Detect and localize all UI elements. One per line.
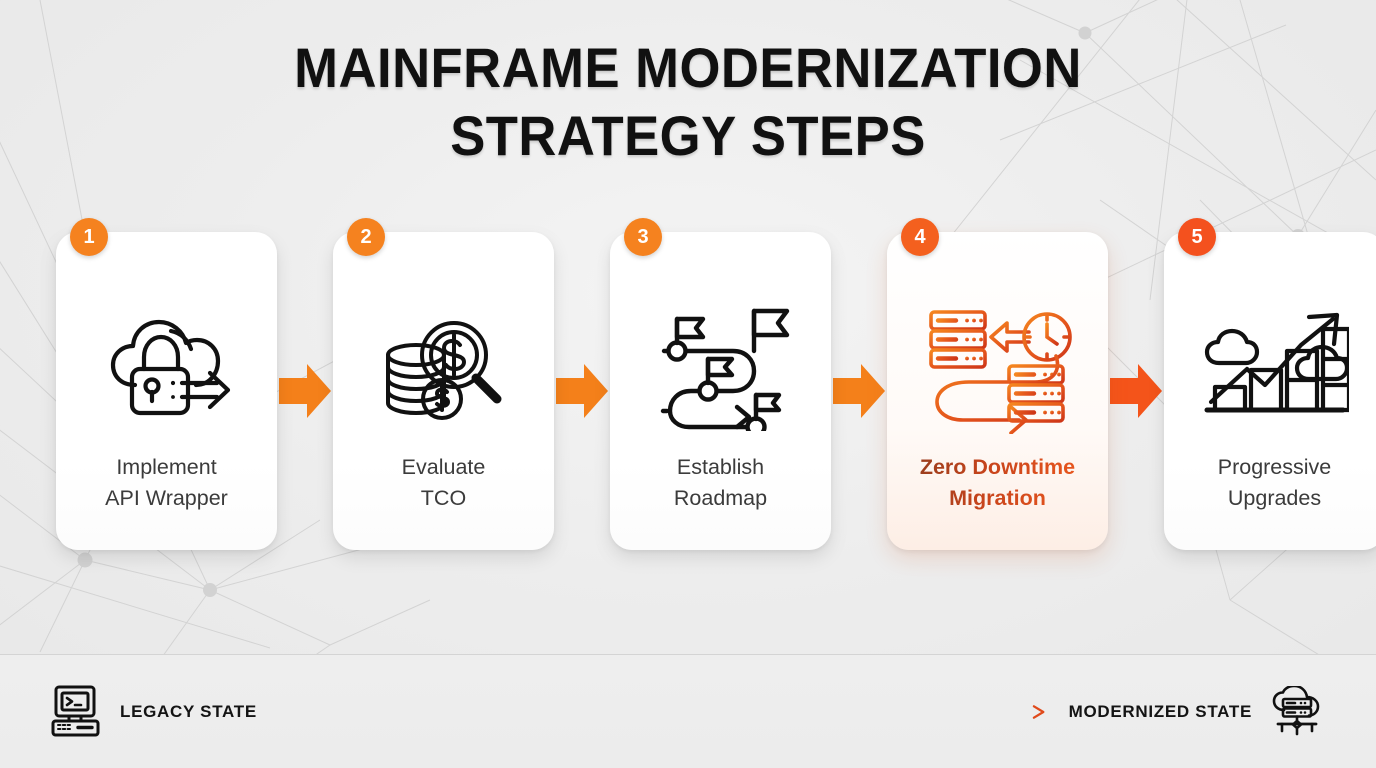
step-label-1: Implement API Wrapper	[64, 452, 269, 514]
step-label-2: Evaluate TCO	[341, 452, 546, 514]
growth-chart-cloud-icon	[1164, 294, 1376, 444]
step-label-4-line2: Migration	[895, 483, 1100, 514]
step-label-4-line1: Zero Downtime	[920, 455, 1075, 479]
step-label-5-line2: Upgrades	[1172, 483, 1376, 514]
legacy-terminal-computer-icon	[50, 684, 102, 740]
step-number-4: 4	[914, 226, 925, 249]
step-label-5: Progressive Upgrades	[1172, 452, 1376, 514]
step-number-3: 3	[637, 226, 648, 249]
step-card-3[interactable]: 3	[610, 232, 831, 550]
step-label-3: Establish Roadmap	[618, 452, 823, 514]
cloud-server-network-icon	[1270, 686, 1326, 738]
step-badge-4: 4	[901, 218, 939, 256]
step-label-2-line2: TCO	[341, 483, 546, 514]
coins-magnifier-dollar-icon	[333, 294, 554, 444]
step-badge-2: 2	[347, 218, 385, 256]
step-card-1[interactable]: 1	[56, 232, 277, 550]
page-title: MAINFRAME MODERNIZATION STRATEGY STEPS	[0, 34, 1376, 170]
step-label-3-line2: Roadmap	[618, 483, 823, 514]
roadmap-milestone-flags-icon	[610, 294, 831, 444]
step-badge-1: 1	[70, 218, 108, 256]
step-label-1-line2: API Wrapper	[64, 483, 269, 514]
step-label-3-line1: Establish	[677, 455, 764, 479]
step-badge-3: 3	[624, 218, 662, 256]
step-label-4: Zero Downtime Migration	[895, 452, 1100, 514]
step-number-5: 5	[1191, 226, 1202, 249]
arrow-2-to-3	[554, 232, 610, 550]
step-card-2[interactable]: 2	[333, 232, 554, 550]
cloud-lock-arrow-icon	[56, 294, 277, 444]
step-number-1: 1	[83, 226, 94, 249]
footer-content: LEGACY STATE MODERNIZED STATE	[50, 655, 1326, 768]
step-number-2: 2	[360, 226, 371, 249]
step-label-2-line1: Evaluate	[402, 455, 486, 479]
title-line-1: MAINFRAME MODERNIZATION	[41, 34, 1334, 102]
step-label-1-line1: Implement	[116, 455, 216, 479]
step-badge-5: 5	[1178, 218, 1216, 256]
step-card-5[interactable]: 5	[1164, 232, 1376, 550]
progress-arrow-head-icon	[1032, 704, 1047, 720]
server-clock-migration-icon	[887, 294, 1108, 444]
infographic-stage: MAINFRAME MODERNIZATION STRATEGY STEPS 1	[0, 0, 1376, 768]
step-card-4[interactable]: 4	[887, 232, 1108, 550]
title-line-2: STRATEGY STEPS	[41, 102, 1334, 170]
arrow-1-to-2	[277, 232, 333, 550]
arrow-4-to-5	[1108, 232, 1164, 550]
arrow-3-to-4	[831, 232, 887, 550]
step-label-5-line1: Progressive	[1218, 455, 1332, 479]
modernized-state-label: MODERNIZED STATE	[1069, 702, 1252, 722]
progress-arrow-line	[279, 706, 1034, 718]
steps-row: 1	[56, 232, 1320, 552]
legacy-state-label: LEGACY STATE	[120, 702, 257, 722]
